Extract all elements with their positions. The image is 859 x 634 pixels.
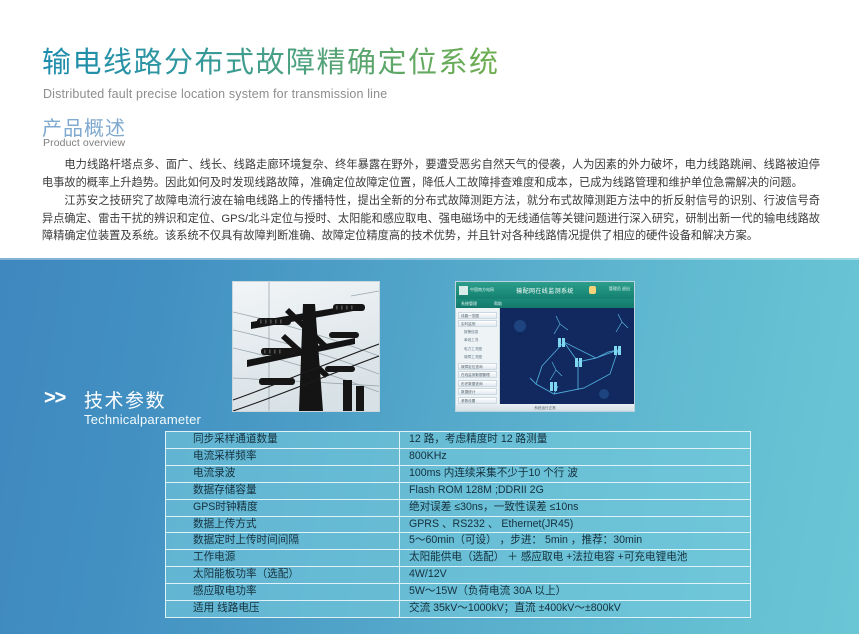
spec-value: Flash ROM 128M ;DDRII 2G <box>400 482 751 499</box>
section-heading-en: Product overview <box>43 137 125 149</box>
software-menu-item-0: 系统管理 <box>461 301 477 307</box>
overview-paragraph-2: 江苏安之技研究了故障电流行波在输电线路上的传播特性，提出全新的分布式故障测距方法… <box>42 193 820 246</box>
grid-topology-icon <box>500 308 634 404</box>
spec-key: 感应取电功率 <box>166 584 400 601</box>
tech-section-title-cn: 技术参数 <box>84 386 166 413</box>
spec-key: 电流录波 <box>166 465 400 482</box>
intro-section: 输电线路分布式故障精确定位系统 Distributed fault precis… <box>0 0 859 258</box>
table-row: 数据定时上传时间间隔 5～60min（可设） ，步进： 5min ，推荐：30m… <box>166 533 751 550</box>
spec-value: 交流 35kV～1000kV；直流 ±400kV～±800kV <box>400 601 751 618</box>
technical-specifications-table: 同步采样通道数量 12 路，考虑精度时 12 路测量 电流采样频率 800KHz… <box>165 431 751 618</box>
spec-key: 同步采样通道数量 <box>166 432 400 449</box>
table-row: 适用 线路电压 交流 35kV～1000kV；直流 ±400kV～±800kV <box>166 601 751 618</box>
page-subtitle: Distributed fault precise location syste… <box>43 87 387 101</box>
spec-key: GPS时钟精度 <box>166 499 400 516</box>
table-row: 数据存储容量 Flash ROM 128M ;DDRII 2G <box>166 482 751 499</box>
overview-body: 电力线路杆塔点多、面广、线长、线路走廊环境复杂、终年暴露在野外，要遭受恶劣自然天… <box>42 157 820 247</box>
spec-key: 工作电源 <box>166 550 400 567</box>
spec-key: 电流采样频率 <box>166 448 400 465</box>
software-title: 输配网在线监测系统 <box>456 286 634 295</box>
page-title: 输电线路分布式故障精确定位系统 <box>42 46 500 80</box>
software-sidebar-item: 在线监测数据管理 <box>458 371 497 378</box>
table-row: 太阳能板功率（选配） 4W/12V <box>166 567 751 584</box>
software-sidebar-item: 故障工况图 <box>458 354 497 361</box>
software-menu-item-1: 帮助 <box>494 301 502 307</box>
software-sidebar: 线路一览图 实时监测 报警信息 单线工况 电力工况图 故障工况图 故障定位查询 … <box>456 308 500 404</box>
overview-paragraph-1: 电力线路杆塔点多、面广、线长、线路走廊环境复杂、终年暴露在野外，要遭受恶劣自然天… <box>42 157 820 192</box>
table-row: 电流采样频率 800KHz <box>166 448 751 465</box>
tech-section-title-en: Technicalparameter <box>84 412 201 427</box>
spec-value: 5～60min（可设） ，步进： 5min ，推荐：30min <box>400 533 751 550</box>
spec-key: 适用 线路电压 <box>166 601 400 618</box>
software-header: 中国南方电网 输配网在线监测系统 管理员 退出 <box>456 282 634 299</box>
spec-value: 4W/12V <box>400 567 751 584</box>
table-row: 数据上传方式 GPRS 、RS232 、 Ethernet(JR45) <box>166 516 751 533</box>
software-network-diagram <box>500 308 634 404</box>
transmission-tower-photo <box>232 281 380 412</box>
software-sidebar-item: 电力工况图 <box>458 346 497 353</box>
table-row: GPS时钟精度 绝对误差 ≤30ns，一致性误差 ≤10ns <box>166 499 751 516</box>
spec-value: 绝对误差 ≤30ns，一致性误差 ≤10ns <box>400 499 751 516</box>
software-user-label: 管理员 退出 <box>609 286 630 292</box>
software-sidebar-item: 故障定位查询 <box>458 363 497 370</box>
spec-key: 数据上传方式 <box>166 516 400 533</box>
product-brochure-page: 输电线路分布式故障精确定位系统 Distributed fault precis… <box>0 0 859 634</box>
tower-illustration <box>233 282 379 411</box>
spec-table-body: 同步采样通道数量 12 路，考虑精度时 12 路测量 电流采样频率 800KHz… <box>166 432 751 618</box>
monitoring-software-screenshot: 中国南方电网 输配网在线监测系统 管理员 退出 系统管理 帮助 线路一览图 实时… <box>455 281 635 412</box>
software-sidebar-item: 单线工况 <box>458 337 497 344</box>
table-row: 工作电源 太阳能供电（选配） ＋ 感应取电 +法拉电容 +可充电锂电池 <box>166 550 751 567</box>
software-sidebar-item: 参数设置 <box>458 397 497 404</box>
software-sidebar-item: 数据统计 <box>458 388 497 395</box>
table-row: 感应取电功率 5W～15W（负荷电流 30A 以上） <box>166 584 751 601</box>
chevron-double-right-icon: >> <box>44 388 65 408</box>
spec-value: 12 路，考虑精度时 12 路测量 <box>400 432 751 449</box>
spec-value: 800KHz <box>400 448 751 465</box>
software-status-bar: 系统运行正常 <box>456 404 634 412</box>
user-avatar-icon <box>589 286 596 294</box>
spec-value: 5W～15W（负荷电流 30A 以上） <box>400 584 751 601</box>
spec-value: 太阳能供电（选配） ＋ 感应取电 +法拉电容 +可充电锂电池 <box>400 550 751 567</box>
spec-key: 太阳能板功率（选配） <box>166 567 400 584</box>
software-sidebar-item: 历史数据查询 <box>458 380 497 387</box>
table-row: 电流录波 100ms 内连续采集不少于10 个行 波 <box>166 465 751 482</box>
table-row: 同步采样通道数量 12 路，考虑精度时 12 路测量 <box>166 432 751 449</box>
spec-key: 数据存储容量 <box>166 482 400 499</box>
software-body: 线路一览图 实时监测 报警信息 单线工况 电力工况图 故障工况图 故障定位查询 … <box>456 308 634 404</box>
spec-key: 数据定时上传时间间隔 <box>166 533 400 550</box>
spec-value: GPRS 、RS232 、 Ethernet(JR45) <box>400 516 751 533</box>
software-sidebar-item: 线路一览图 <box>458 312 497 319</box>
software-sidebar-item: 实时监测 <box>458 320 497 327</box>
software-sidebar-item: 报警信息 <box>458 329 497 336</box>
spec-value: 100ms 内连续采集不少于10 个行 波 <box>400 465 751 482</box>
software-menubar: 系统管理 帮助 <box>456 299 634 308</box>
